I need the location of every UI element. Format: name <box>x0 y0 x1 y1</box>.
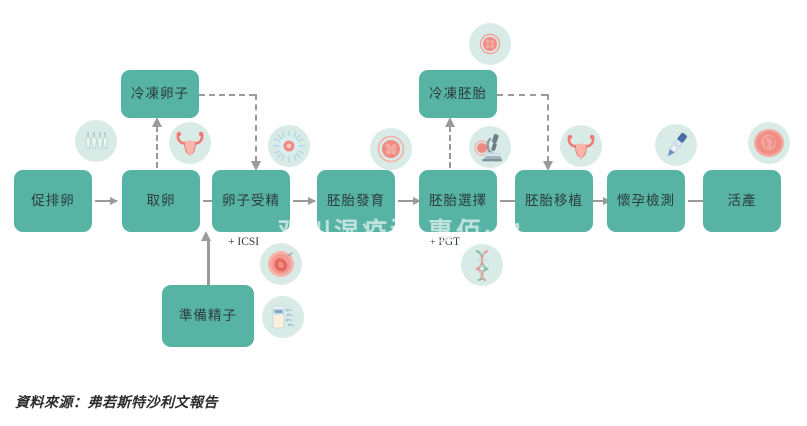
step-box-embryo-transfer[interactable]: 胚胎移植 <box>515 170 593 232</box>
step-label: 胚胎移植 <box>525 194 583 208</box>
step-box-prepare-sperm[interactable]: 準備精子 <box>162 285 254 347</box>
uterus-icon <box>169 122 211 164</box>
syringes-icon <box>75 120 117 162</box>
pregnancy-test-icon <box>655 124 697 166</box>
step-label: 準備精子 <box>179 309 237 323</box>
step-box-frozen-embryos[interactable]: 冷凍胚胎 <box>419 70 497 118</box>
dashed-arrow-frozen-eggs-to-fertilization <box>255 94 257 162</box>
step-label: 活產 <box>728 194 757 208</box>
step-box-frozen-eggs[interactable]: 冷凍卵子 <box>121 70 199 118</box>
arrow-sperm-to-fertilization <box>207 240 210 290</box>
fertilized-egg-icon <box>268 125 310 167</box>
dashed-line-frozen-eggs-to-right <box>199 94 255 96</box>
zygote-icon <box>260 243 302 285</box>
step-box-ovarian-stimulation[interactable]: 促排卵 <box>14 170 92 232</box>
arrow-development-to-selection <box>398 200 420 202</box>
newborn-icon <box>748 122 790 164</box>
step-label: 卵子受精 <box>222 194 280 208</box>
dashed-arrow-selection-to-frozen-embryos <box>449 126 451 168</box>
dashed-line-frozen-embryos-to-right <box>497 94 547 96</box>
step-label: 懷孕檢測 <box>617 194 675 208</box>
uterus-icon <box>560 125 602 167</box>
step-label: 胚胎選擇 <box>429 194 487 208</box>
arrow-stimulation-to-retrieval <box>95 200 117 202</box>
dna-helix-icon <box>461 244 503 286</box>
microscope-icon <box>469 126 511 168</box>
sperm-sample-icon <box>262 296 304 338</box>
source-note: 資料來源：弗若斯特沙利文報告 <box>15 392 218 412</box>
cryopreserved-embryo-icon <box>469 23 511 65</box>
pgt-annotation-label: + PGT <box>429 236 460 248</box>
step-label: 取卵 <box>147 194 176 208</box>
step-label: 冷凍卵子 <box>131 87 189 101</box>
step-box-embryo-selection[interactable]: 胚胎選擇 <box>419 170 497 232</box>
step-box-egg-retrieval[interactable]: 取卵 <box>122 170 200 232</box>
icsi-annotation-label: + ICSI <box>228 236 259 248</box>
embryo-icon <box>370 128 412 170</box>
dashed-arrow-frozen-embryos-to-transfer <box>547 94 549 162</box>
arrow-fertilization-to-development <box>293 200 315 202</box>
step-box-embryo-development[interactable]: 胚胎發育 <box>317 170 395 232</box>
step-label: 促排卵 <box>31 194 75 208</box>
step-box-pregnancy-test[interactable]: 懷孕檢測 <box>607 170 685 232</box>
dashed-arrow-retrieval-to-frozen-eggs <box>156 126 158 168</box>
step-box-egg-fertilization[interactable]: 卵子受精 <box>212 170 290 232</box>
step-label: 冷凍胚胎 <box>429 87 487 101</box>
step-box-live-birth[interactable]: 活產 <box>703 170 781 232</box>
step-label: 胚胎發育 <box>327 194 385 208</box>
flowchart-canvas: 促排卵 取卵 卵子受精 胚胎發育 胚胎選擇 胚胎移植 懷孕檢測 活產 冷凍卵子 … <box>0 0 807 426</box>
